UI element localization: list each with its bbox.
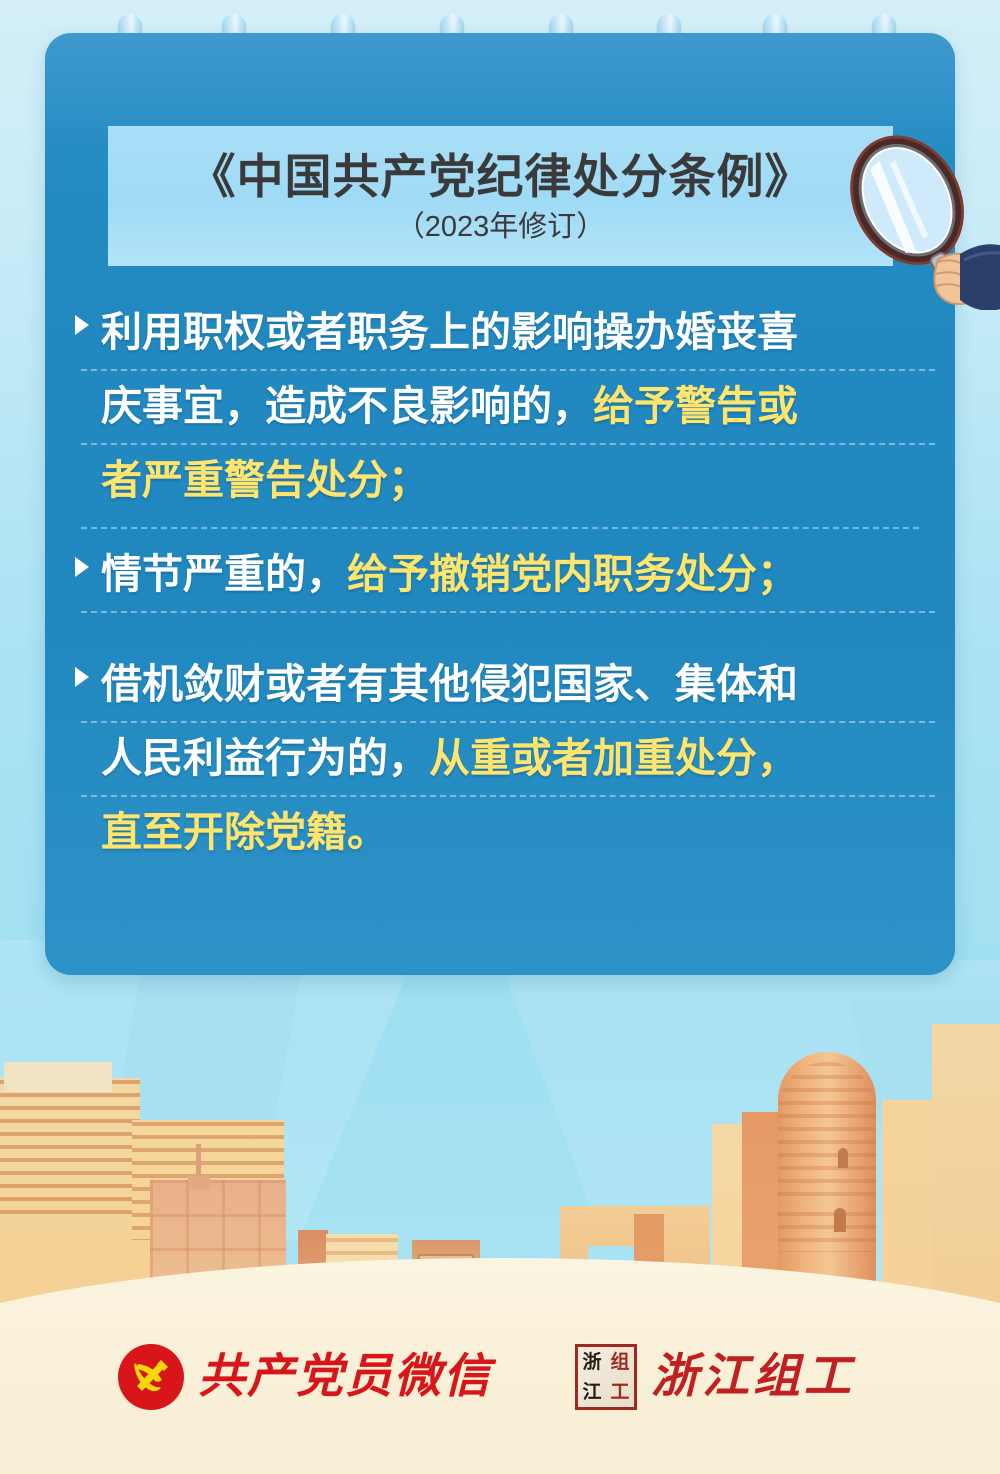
dashed-divider — [81, 443, 935, 445]
page-title: 《中国共产党纪律处分条例》 — [189, 151, 813, 204]
triangle-bullet-icon — [75, 557, 89, 577]
list-item: 情节严重的，给予撤销党内职务处分； — [45, 537, 955, 611]
building-tower-bands — [778, 1212, 876, 1252]
clause-line: 庆事宜，造成不良影响的，给予警告或 — [45, 369, 955, 443]
clause-highlight: 从重或者加重处分， — [429, 735, 798, 781]
logo-zhejiang-zugong[interactable]: 浙 组 江 工 浙江组工 — [575, 1344, 855, 1410]
building-tower-bands — [778, 1062, 876, 1200]
clause-line: 利用职权或者职务上的影响操办婚丧喜 — [45, 295, 955, 369]
dashed-divider — [81, 721, 935, 723]
dashed-divider — [81, 369, 935, 371]
dashed-divider — [81, 795, 935, 797]
list-item: 借机敛财或者有其他侵犯国家、集体和 人民利益行为的，从重或者加重处分， 直至开除… — [45, 647, 955, 869]
clause-line: 者严重警告处分； — [45, 443, 955, 517]
zhejiang-seal-icon: 浙 组 江 工 — [575, 1344, 637, 1410]
clause-line: 直至开除党籍。 — [45, 795, 955, 869]
title-band: 《中国共产党纪律处分条例》 （2023年修订） — [108, 126, 893, 266]
clause-text: 借机敛财或者有其他侵犯国家、集体和 — [101, 661, 798, 707]
dashed-divider — [81, 611, 935, 613]
logo-text-cpc-wechat: 共产党员微信 — [198, 1354, 492, 1401]
clause-line: 人民利益行为的，从重或者加重处分， — [45, 721, 955, 795]
footer-logos: 共产党员微信 浙 组 江 工 浙江组工 — [0, 1336, 1000, 1466]
clause-text: 人民利益行为的， — [101, 735, 429, 781]
clause-list: 利用职权或者职务上的影响操办婚丧喜 庆事宜，造成不良影响的，给予警告或 者严重警… — [45, 295, 955, 879]
seal-char: 浙 — [582, 1353, 601, 1372]
triangle-bullet-icon — [75, 315, 89, 335]
dashed-divider — [81, 527, 919, 529]
seal-char: 工 — [610, 1383, 629, 1402]
clause-line: 情节严重的，给予撤销党内职务处分； — [45, 537, 955, 611]
seal-char: 组 — [610, 1353, 629, 1372]
building-far-right-b — [932, 1024, 1000, 1324]
clause-highlight: 给予警告或 — [593, 383, 798, 429]
notebook-card: 《中国共产党纪律处分条例》 （2023年修订） 利用职权或者职务上的影响操办婚丧… — [45, 33, 955, 975]
clause-text: 利用职权或者职务上的影响操办婚丧喜 — [101, 309, 798, 355]
clause-text: 情节严重的， — [101, 551, 347, 597]
building-antenna-base — [188, 1176, 210, 1190]
page-subtitle: （2023年修订） — [396, 210, 606, 245]
building-stripes — [0, 1080, 140, 1220]
clause-highlight: 直至开除党籍。 — [101, 809, 388, 855]
poster-canvas: 《中国共产党纪律处分条例》 （2023年修订） 利用职权或者职务上的影响操办婚丧… — [0, 0, 1000, 1474]
clause-highlight: 者严重警告处分； — [101, 457, 429, 503]
clause-text: 庆事宜，造成不良影响的， — [101, 383, 593, 429]
spacer — [45, 621, 955, 647]
clause-highlight: 给予撤销党内职务处分； — [347, 551, 798, 597]
triangle-bullet-icon — [75, 667, 89, 687]
building-tower-window — [834, 1208, 846, 1232]
seal-char: 江 — [582, 1383, 601, 1402]
clause-line: 借机敛财或者有其他侵犯国家、集体和 — [45, 647, 955, 721]
magnifying-glass-icon — [820, 110, 1000, 310]
building-tower-window — [838, 1148, 848, 1168]
logo-text-zhejiang-zugong: 浙江组工 — [651, 1354, 855, 1401]
building-roofbox — [4, 1062, 112, 1092]
list-item: 利用职权或者职务上的影响操办婚丧喜 庆事宜，造成不良影响的，给予警告或 者严重警… — [45, 295, 955, 517]
logo-cpc-wechat[interactable]: 共产党员微信 — [118, 1344, 492, 1410]
cpc-hammer-sickle-icon — [118, 1344, 184, 1410]
